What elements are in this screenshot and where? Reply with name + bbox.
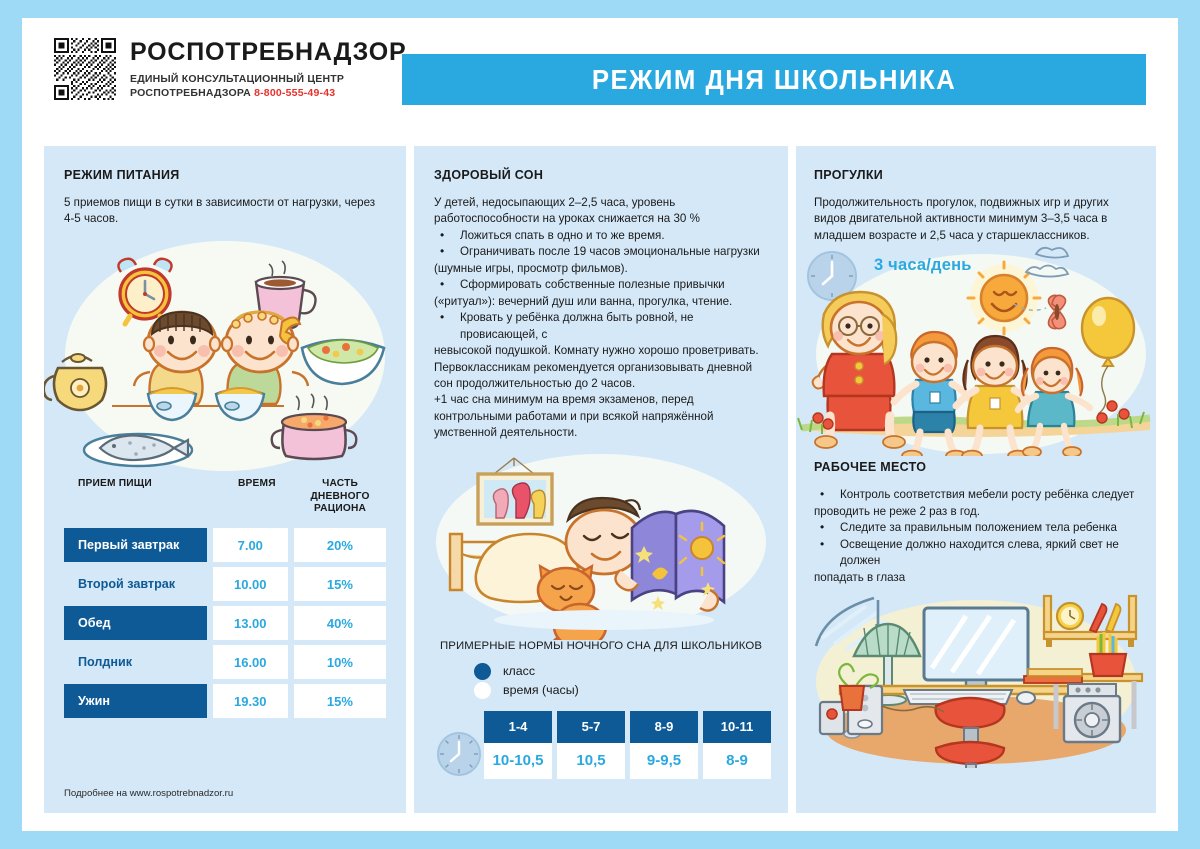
meal-table-header: ПРИЕМ ПИЩИ ВРЕМЯ ЧАСТЬ ДНЕВНОГО РАЦИОНА xyxy=(64,478,386,528)
workplace-bullet-1-wrap: Контроль соответствия мебели росту ребён… xyxy=(814,487,1138,503)
meal-time: 10.00 xyxy=(213,567,288,601)
norms-hours: 10,5 xyxy=(557,743,625,779)
norms-hours: 8-9 xyxy=(703,743,771,779)
consult-center-line: ЕДИНЫЙ КОНСУЛЬТАЦИОННЫЙ ЦЕНТР xyxy=(130,73,344,85)
logo-text: РОСПОТРЕБНАДЗОР ЕДИНЫЙ КОНСУЛЬТАЦИОННЫЙ … xyxy=(130,38,406,101)
norms-hours: 10-10,5 xyxy=(484,743,552,779)
legend-entry-class: класс xyxy=(474,663,788,680)
logo-block: РОСПОТРЕБНАДЗОР ЕДИНЫЙ КОНСУЛЬТАЦИОННЫЙ … xyxy=(54,38,406,101)
nutrition-heading: РЕЖИМ ПИТАНИЯ xyxy=(64,168,386,182)
brand-subtitle: ЕДИНЫЙ КОНСУЛЬТАЦИОННЫЙ ЦЕНТР РОСПОТРЕБН… xyxy=(130,72,406,101)
norms-class: 8-9 xyxy=(630,711,698,743)
legend-label: класс xyxy=(503,664,535,678)
workplace-desk-illustration xyxy=(796,590,1156,768)
sleep-extra-note: +1 час сна минимум на время экзаменов, п… xyxy=(434,392,768,441)
meal-name: Полдник xyxy=(64,645,207,679)
norms-hours: 9-9,5 xyxy=(630,743,698,779)
norms-grid: 1-4 10-10,5 5-7 10,5 8-9 9-9,5 10-11 8-9 xyxy=(484,711,771,779)
table-row: Первый завтрак 7.00 20% xyxy=(64,528,386,562)
clock-icon xyxy=(436,731,482,777)
norms-column: 8-9 9-9,5 xyxy=(630,711,698,779)
meal-part: 10% xyxy=(294,645,386,679)
list-item: Следите за правильным положением тела ре… xyxy=(814,520,1138,536)
hotline-phone: 8-800-555-49-43 xyxy=(254,87,335,99)
legend-marker-dark-icon xyxy=(474,663,491,680)
norms-column: 5-7 10,5 xyxy=(557,711,625,779)
norms-class: 5-7 xyxy=(557,711,625,743)
meal-part: 15% xyxy=(294,567,386,601)
footnote-link[interactable]: Подробнее на www.rospotrebnadzor.ru xyxy=(64,788,233,799)
col-header-part: ЧАСТЬ ДНЕВНОГО РАЦИОНА xyxy=(294,478,386,516)
walks-illustration-wrap: 3 часа/день xyxy=(796,244,1156,456)
sleep-cont-2: («ритуал»): вечерний душ или ванна, прог… xyxy=(434,294,768,310)
table-row: Ужин 19.30 15% xyxy=(64,684,386,718)
walk-duration-badge: 3 часа/день xyxy=(874,256,972,275)
poster-card: РОСПОТРЕБНАДЗОР ЕДИНЫЙ КОНСУЛЬТАЦИОННЫЙ … xyxy=(22,18,1178,831)
list-item: Ограничивать после 19 часов эмоциональны… xyxy=(434,244,768,260)
workplace-heading: РАБОЧЕЕ МЕСТО xyxy=(814,460,1138,474)
breakfast-illustration xyxy=(44,228,406,478)
sleep-bullet-3-wrap: Сформировать собственные полезные привыч… xyxy=(434,277,768,293)
table-row: Второй завтрак 10.00 15% xyxy=(64,567,386,601)
sleep-norms-legend: класс время (часы) xyxy=(474,663,788,699)
children-walking-illustration xyxy=(796,244,1156,456)
norms-class: 1-4 xyxy=(484,711,552,743)
legend-marker-light-icon xyxy=(474,682,491,699)
norms-class: 10-11 xyxy=(703,711,771,743)
sleep-intro: У детей, недосыпающих 2–2,5 часа, уровен… xyxy=(434,195,768,228)
meal-part: 20% xyxy=(294,528,386,562)
sleep-bullet-4-wrap: Кровать у ребёнка должна быть ровной, не… xyxy=(434,310,768,343)
list-item: Контроль соответствия мебели росту ребён… xyxy=(814,487,1138,503)
norms-column: 1-4 10-10,5 xyxy=(484,711,552,779)
sleep-cont-1: (шумные игры, просмотр фильмов). xyxy=(434,261,768,277)
meal-schedule-table: ПРИЕМ ПИЩИ ВРЕМЯ ЧАСТЬ ДНЕВНОГО РАЦИОНА … xyxy=(64,478,386,718)
legend-label: время (часы) xyxy=(503,683,579,697)
workplace-cont-2: попадать в глаза xyxy=(814,570,1138,586)
list-item: Ложиться спать в одно и то же время. xyxy=(434,228,768,244)
sleeping-child-illustration xyxy=(414,450,788,640)
list-item: Кровать у ребёнка должна быть ровной, не… xyxy=(434,310,768,343)
column-sleep: ЗДОРОВЫЙ СОН У детей, недосыпающих 2–2,5… xyxy=(414,146,788,813)
meal-name: Первый завтрак xyxy=(64,528,207,562)
workplace-bullet-2-wrap: Следите за правильным положением тела ре… xyxy=(814,520,1138,569)
rospotrebnadzor-line: РОСПОТРЕБНАДЗОРА xyxy=(130,87,251,99)
meal-time: 19.30 xyxy=(213,684,288,718)
meal-time: 7.00 xyxy=(213,528,288,562)
column-nutrition: РЕЖИМ ПИТАНИЯ 5 приемов пищи в сутки в з… xyxy=(44,146,406,813)
sleep-heading: ЗДОРОВЫЙ СОН xyxy=(434,168,768,182)
meal-part: 15% xyxy=(294,684,386,718)
col-header-time: ВРЕМЯ xyxy=(220,478,295,516)
walks-intro: Продолжительность прогулок, подвижных иг… xyxy=(814,195,1138,244)
content-columns: РЕЖИМ ПИТАНИЯ 5 приемов пищи в сутки в з… xyxy=(44,146,1156,813)
col-header-meal: ПРИЕМ ПИЩИ xyxy=(64,478,220,516)
title-bar: РЕЖИМ ДНЯ ШКОЛЬНИКА xyxy=(402,54,1146,105)
brand-name: РОСПОТРЕБНАДЗОР xyxy=(130,40,406,65)
nutrition-intro: 5 приемов пищи в сутки в зависимости от … xyxy=(64,195,386,228)
sleep-norms-title: ПРИМЕРНЫЕ НОРМЫ НОЧНОГО СНА ДЛЯ ШКОЛЬНИК… xyxy=(414,640,788,652)
meal-time: 16.00 xyxy=(213,645,288,679)
meal-time: 13.00 xyxy=(213,606,288,640)
list-item: Освещение должно находится слева, яркий … xyxy=(814,537,1138,570)
page-title: РЕЖИМ ДНЯ ШКОЛЬНИКА xyxy=(592,64,956,96)
meal-name: Второй завтрак xyxy=(64,567,207,601)
table-row: Обед 13.00 40% xyxy=(64,606,386,640)
list-item: Сформировать собственные полезные привыч… xyxy=(434,277,768,293)
meal-name: Ужин xyxy=(64,684,207,718)
walks-heading: ПРОГУЛКИ xyxy=(814,168,1138,182)
sleep-bullet-list: Ложиться спать в одно и то же время. Огр… xyxy=(434,228,768,261)
meal-part: 40% xyxy=(294,606,386,640)
sleep-norms-table: 1-4 10-10,5 5-7 10,5 8-9 9-9,5 10-11 8-9 xyxy=(436,711,788,779)
poster-header: РОСПОТРЕБНАДЗОР ЕДИНЫЙ КОНСУЛЬТАЦИОННЫЙ … xyxy=(22,18,1178,130)
legend-entry-hours: время (часы) xyxy=(474,682,788,699)
table-row: Полдник 16.00 10% xyxy=(64,645,386,679)
qr-code-icon xyxy=(54,38,116,100)
meal-name: Обед xyxy=(64,606,207,640)
sleep-cont-3: невысокой подушкой. Комнату нужно хорошо… xyxy=(434,343,768,392)
norms-column: 10-11 8-9 xyxy=(703,711,771,779)
column-walks-workplace: ПРОГУЛКИ Продолжительность прогулок, под… xyxy=(796,146,1156,813)
workplace-cont-1: проводить не реже 2 раз в год. xyxy=(814,504,1138,520)
